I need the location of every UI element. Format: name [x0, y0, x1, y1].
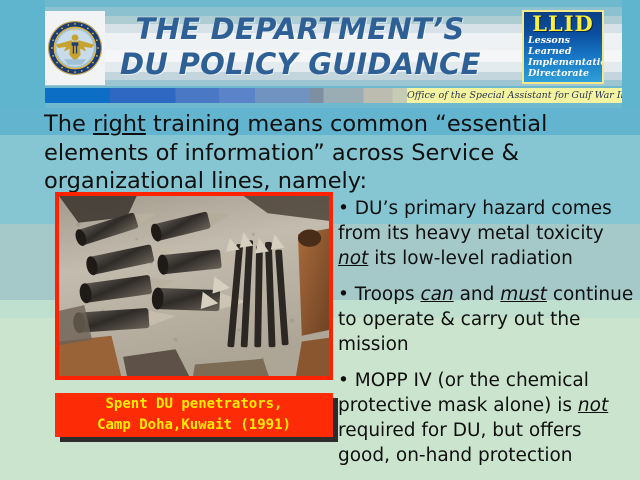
dod-seal-container: DEPT [45, 11, 105, 85]
svg-text:DEPT: DEPT [69, 27, 81, 32]
photo-image [59, 196, 329, 376]
caption-line-2: Camp Doha,Kuwait (1991) [55, 415, 333, 436]
lead-paragraph: The right training means common “essenti… [44, 110, 629, 196]
dod-seal-icon: DEPT [47, 14, 103, 82]
bullet-1-seg-2: its low-level radiation [368, 248, 573, 269]
caption-line-1: Spent DU penetrators, [55, 394, 333, 415]
bullet-marker: • [338, 284, 349, 305]
photo-caption: Spent DU penetrators, Camp Doha,Kuwait (… [55, 393, 333, 437]
header-color-bar [45, 88, 407, 103]
llid-line-learned: Learned [524, 46, 602, 57]
bullet-2-seg-2: and [454, 284, 501, 305]
bullet-2-seg-1: Troops [349, 284, 421, 305]
bullet-2-emphasis-can: can [420, 284, 453, 305]
lead-part-1: The [44, 111, 93, 137]
bullet-item-1: • DU’s primary hazard comes from its hea… [338, 196, 636, 271]
page-title: THE DEPARTMENT’S DU POLICY GUIDANCE [120, 12, 480, 88]
du-penetrators-photo [55, 192, 333, 380]
lead-emphasis-right: right [93, 111, 146, 137]
bullet-item-3: • MOPP IV (or the chemical protective ma… [338, 368, 636, 468]
bullet-1-emphasis-not: not [338, 248, 368, 269]
llid-line-directorate: Directorate [524, 68, 602, 79]
bullet-3-seg-2: required for DU, but offers good, on-han… [338, 420, 582, 466]
bullet-1-seg-1: DU’s primary hazard comes from its heavy… [338, 198, 612, 244]
bullet-list: • DU’s primary hazard comes from its hea… [338, 196, 636, 479]
llid-logo: LLID Lessons Learned Implementation Dire… [522, 10, 604, 84]
llid-line-implementation: Implementation [524, 57, 602, 68]
title-line-2: DU POLICY GUIDANCE [120, 47, 480, 82]
bullet-3-emphasis-not: not [578, 395, 608, 416]
bullet-3-seg-1: MOPP IV (or the chemical protective mask… [338, 370, 589, 416]
llid-acronym: LLID [524, 13, 602, 35]
slide: DEPT THE DEPARTMENT’S DU POLICY GUIDANCE… [0, 0, 640, 480]
header-right-fill [622, 0, 640, 108]
llid-line-lessons: Lessons [524, 35, 602, 46]
header-left-fill [0, 0, 45, 108]
bullet-marker: • [338, 370, 349, 391]
bullet-item-2: • Troops can and must continue to operat… [338, 282, 636, 357]
bullet-2-emphasis-must: must [500, 284, 547, 305]
bullet-marker: • [338, 198, 349, 219]
office-banner: Office of the Special Assistant for Gulf… [407, 88, 622, 103]
title-line-1: THE DEPARTMENT’S [120, 12, 480, 47]
